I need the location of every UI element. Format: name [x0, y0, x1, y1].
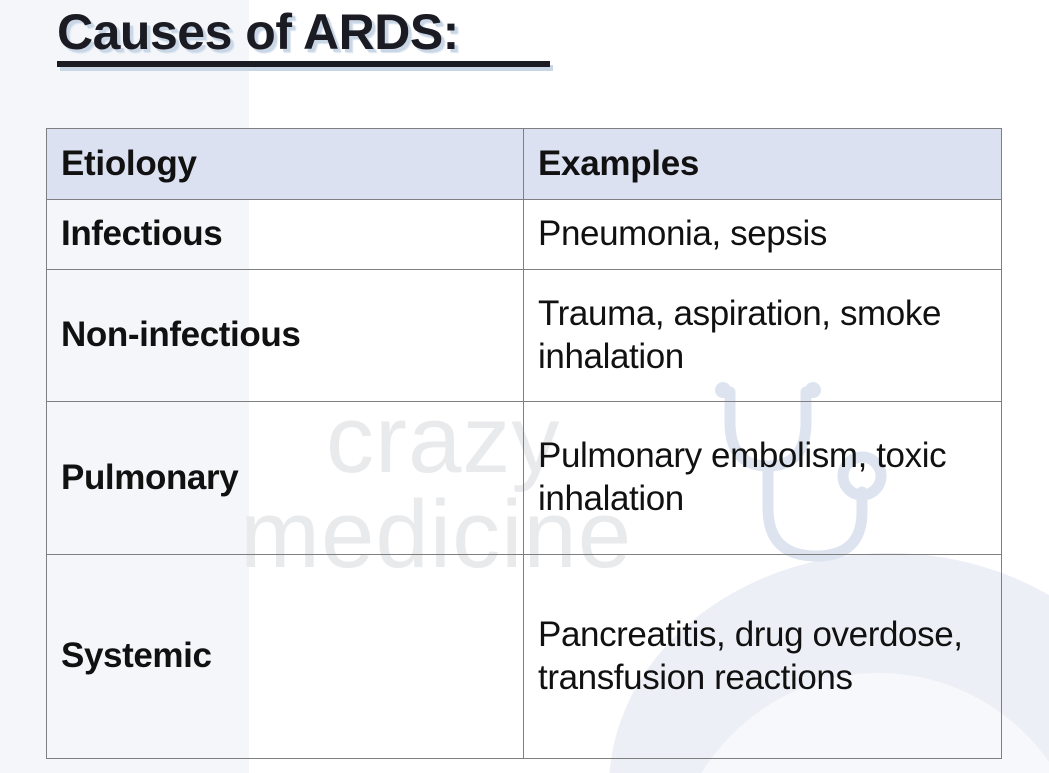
table-header-row: Etiology Examples — [47, 129, 1002, 200]
causes-of-ards-table: Etiology Examples Infectious Pneumonia, … — [46, 128, 1002, 759]
slide-canvas: crazy medicine Causes of ARDS: Etiology … — [0, 0, 1049, 773]
table-row: Infectious Pneumonia, sepsis — [47, 200, 1002, 270]
cell-etiology: Infectious — [47, 200, 524, 270]
cell-examples: Pneumonia, sepsis — [524, 200, 1002, 270]
page-title: Causes of ARDS: — [57, 6, 577, 59]
title-block: Causes of ARDS: — [57, 6, 577, 67]
cell-etiology: Non-infectious — [47, 270, 524, 402]
cell-examples: Trauma, aspiration, smoke inhalation — [524, 270, 1002, 402]
cell-etiology: Systemic — [47, 555, 524, 759]
column-header-etiology: Etiology — [47, 129, 524, 200]
cell-etiology: Pulmonary — [47, 402, 524, 555]
table-row: Pulmonary Pulmonary embolism, toxic inha… — [47, 402, 1002, 555]
cell-examples: Pulmonary embolism, toxic inhalation — [524, 402, 1002, 555]
table-row: Systemic Pancreatitis, drug overdose, tr… — [47, 555, 1002, 759]
table-row: Non-infectious Trauma, aspiration, smoke… — [47, 270, 1002, 402]
column-header-examples: Examples — [524, 129, 1002, 200]
cell-examples: Pancreatitis, drug overdose, transfusion… — [524, 555, 1002, 759]
title-underline-rule — [57, 61, 550, 67]
